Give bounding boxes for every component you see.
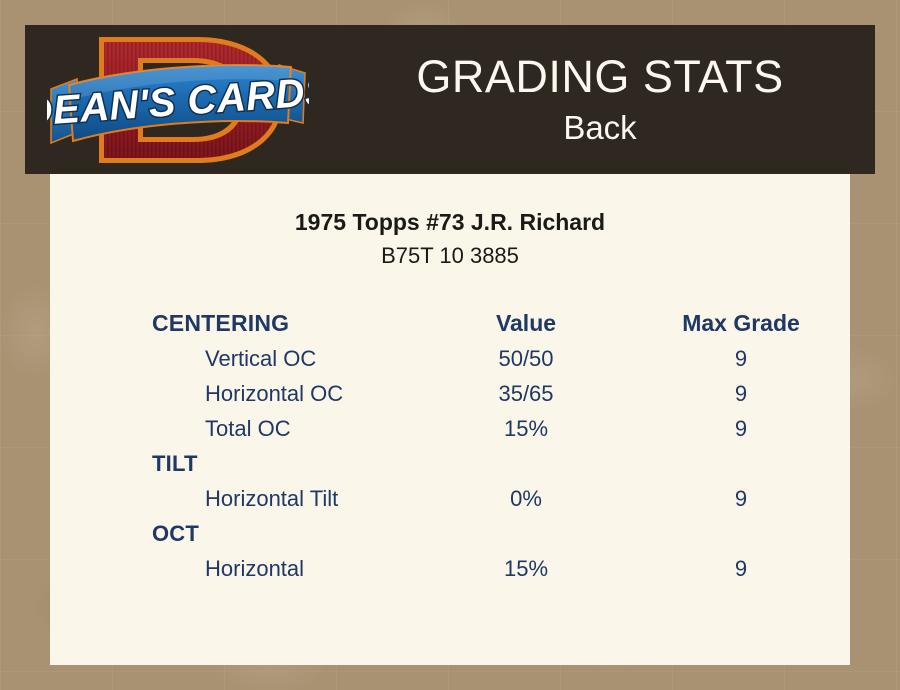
page-subtitle: Back [563, 111, 636, 144]
section-spacer-grade [650, 446, 850, 481]
column-header-value: Value [450, 306, 650, 341]
column-header-max-grade: Max Grade [650, 306, 850, 341]
row-value: 50/50 [450, 341, 650, 376]
card-title: 1975 Topps #73 J.R. Richard [50, 210, 850, 235]
header-bar: DEAN'S CARDS GRADING STATS Back [25, 25, 875, 174]
row-max-grade: 9 [650, 376, 850, 411]
section-header-row: OCT [50, 516, 850, 551]
row-label: Horizontal [50, 551, 450, 586]
row-label: Vertical OC [50, 341, 450, 376]
table-body: Vertical OC 50/50 9 Horizontal OC 35/65 … [50, 341, 850, 586]
row-max-grade: 9 [650, 481, 850, 516]
content-panel: 1975 Topps #73 J.R. Richard B75T 10 3885… [50, 174, 850, 665]
table-row: Vertical OC 50/50 9 [50, 341, 850, 376]
row-max-grade: 9 [650, 411, 850, 446]
section-spacer-grade [650, 516, 850, 551]
deans-cards-logo[interactable]: DEAN'S CARDS [47, 27, 309, 173]
card-id: B75T 10 3885 [50, 244, 850, 268]
table-row: Horizontal Tilt 0% 9 [50, 481, 850, 516]
grading-stats-table: CENTERING Value Max Grade Vertical OC 50… [50, 306, 850, 586]
row-value: 35/65 [450, 376, 650, 411]
grading-stats-page: DEAN'S CARDS GRADING STATS Back 1975 Top… [0, 0, 900, 690]
header-titles: GRADING STATS Back [325, 25, 875, 174]
row-label: Horizontal Tilt [50, 481, 450, 516]
logo-artwork: DEAN'S CARDS [47, 27, 309, 173]
section-spacer-value [450, 516, 650, 551]
section-header-row: TILT [50, 446, 850, 481]
table-row: Total OC 15% 9 [50, 411, 850, 446]
table-head: CENTERING Value Max Grade [50, 306, 850, 341]
row-value: 15% [450, 551, 650, 586]
row-max-grade: 9 [650, 551, 850, 586]
row-label: Horizontal OC [50, 376, 450, 411]
page-title: GRADING STATS [416, 54, 783, 99]
row-value: 15% [450, 411, 650, 446]
section-spacer-value [450, 446, 650, 481]
row-value: 0% [450, 481, 650, 516]
table-row: Horizontal OC 35/65 9 [50, 376, 850, 411]
column-header-section: CENTERING [50, 306, 450, 341]
section-label-oct: OCT [50, 516, 450, 551]
row-max-grade: 9 [650, 341, 850, 376]
section-label-tilt: TILT [50, 446, 450, 481]
table-row: Horizontal 15% 9 [50, 551, 850, 586]
row-label: Total OC [50, 411, 450, 446]
table-header-row: CENTERING Value Max Grade [50, 306, 850, 341]
